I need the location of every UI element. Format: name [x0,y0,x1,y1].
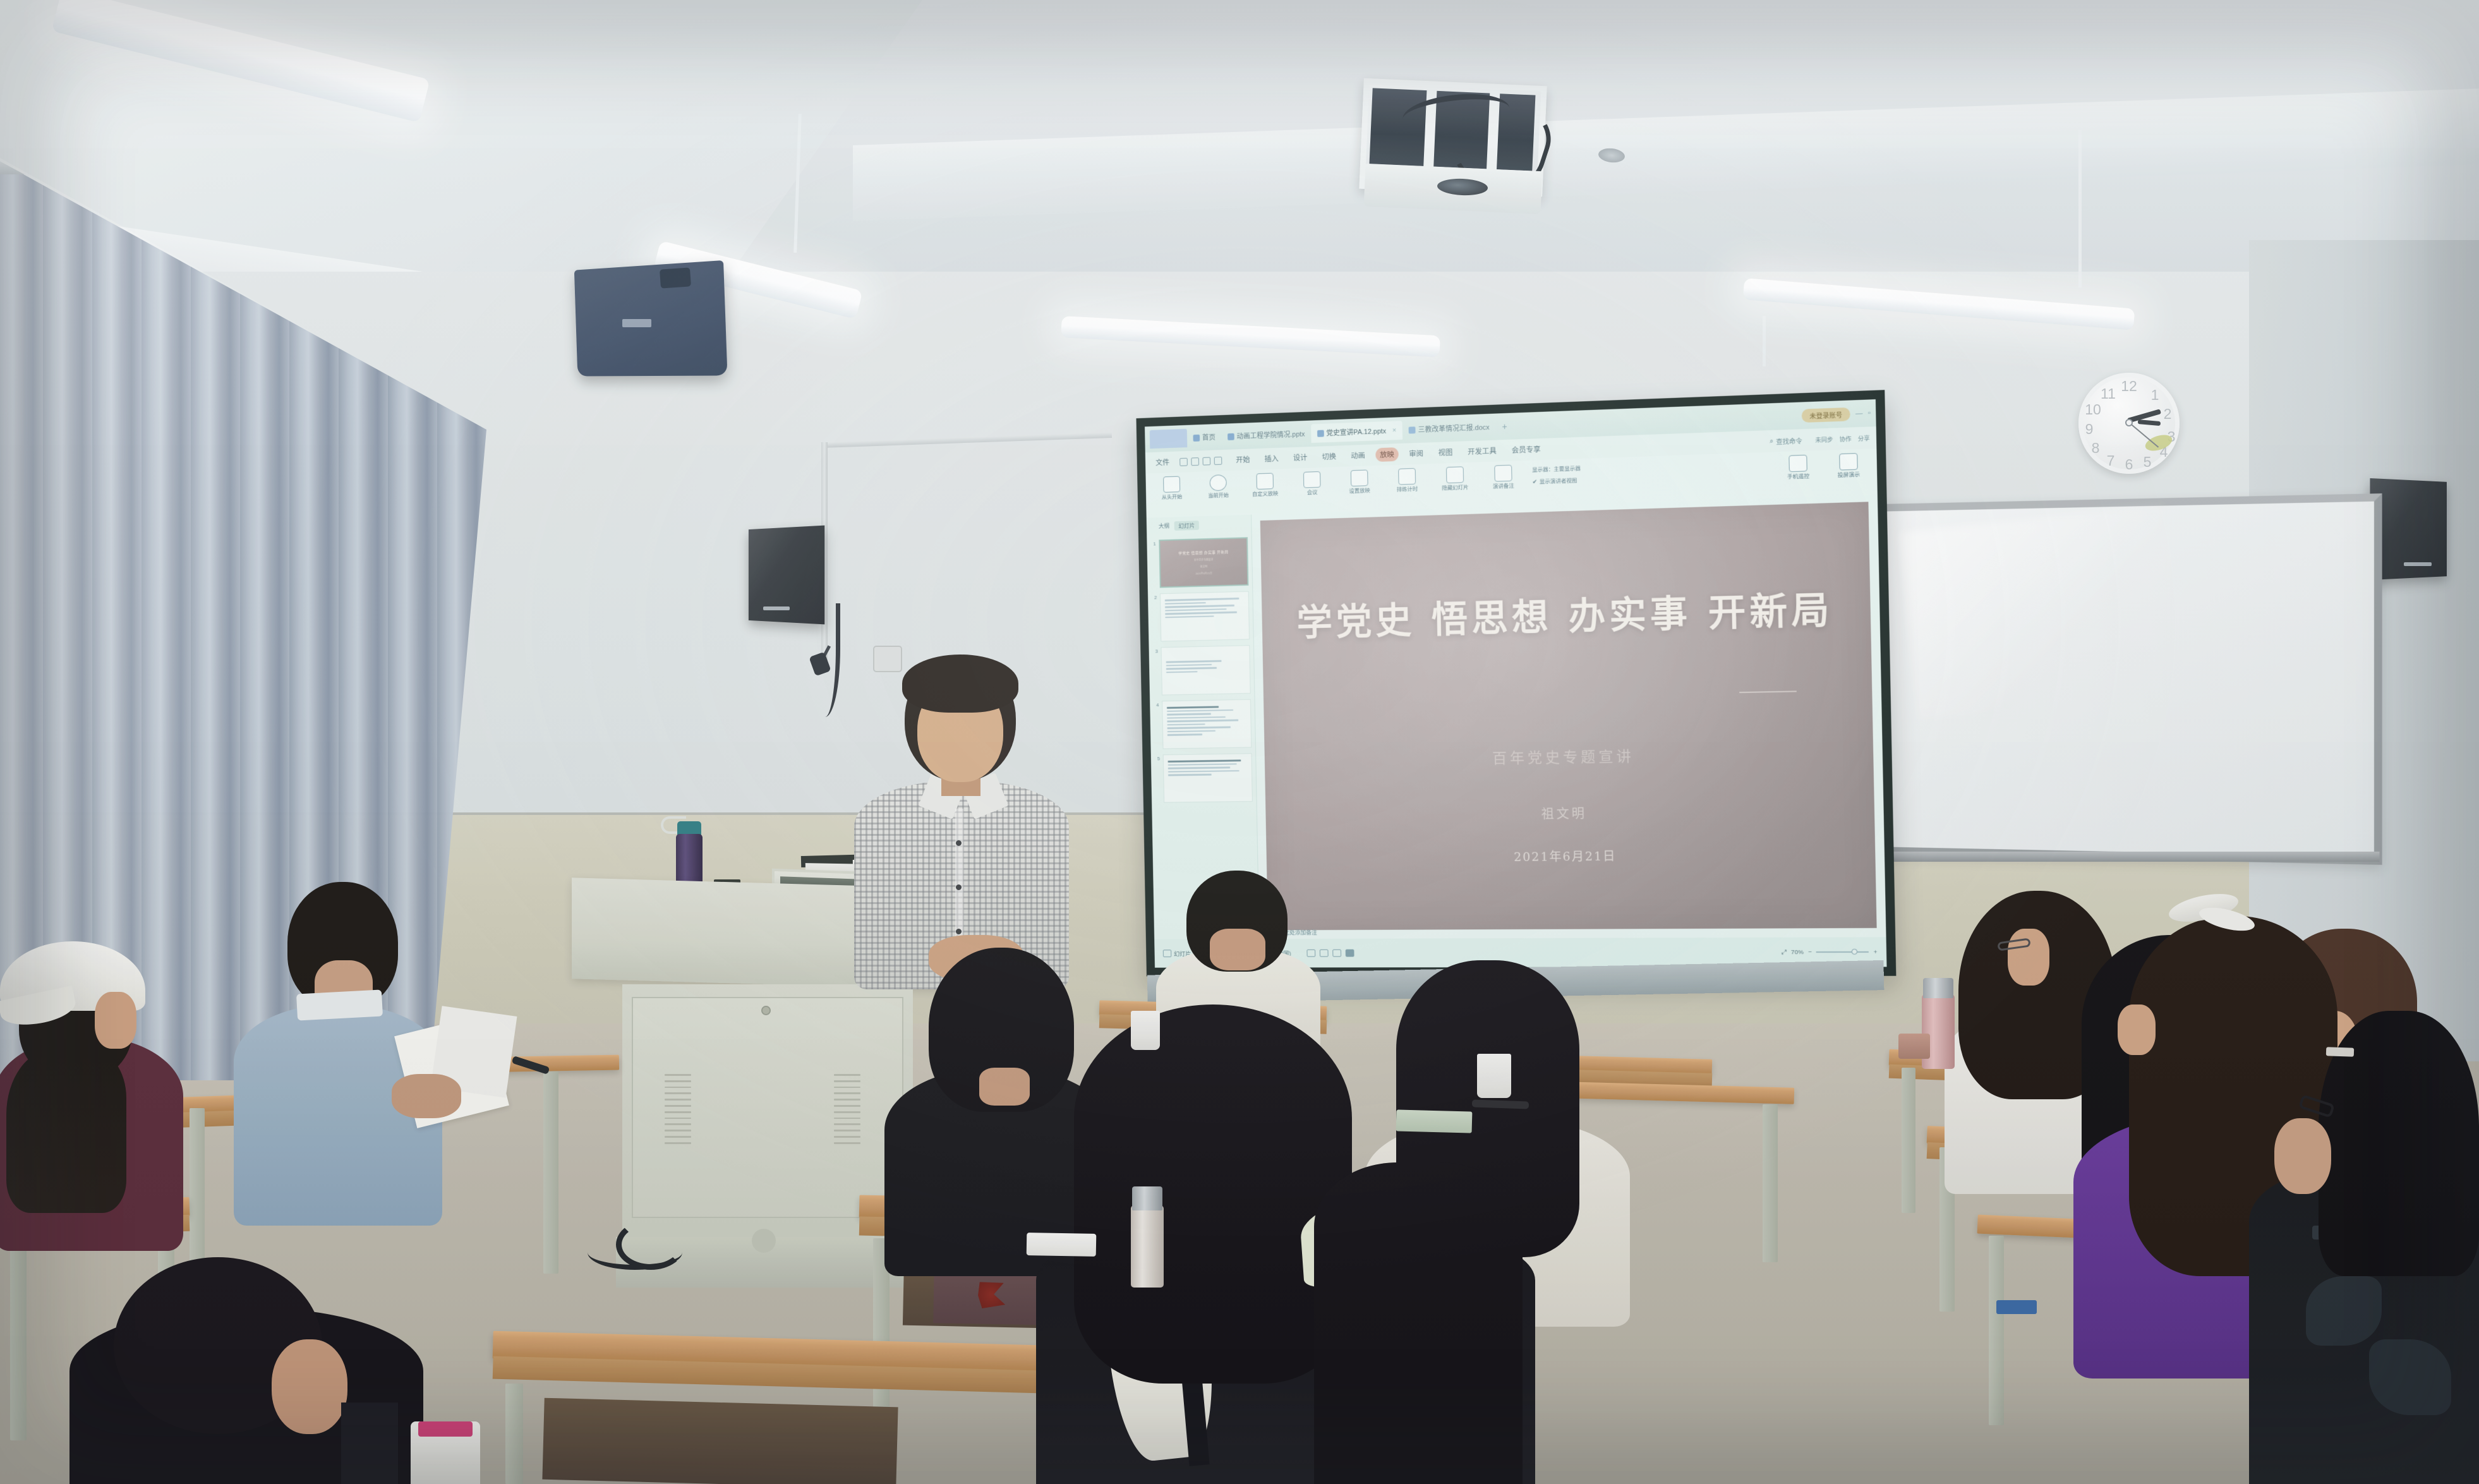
monitor-select[interactable]: 显示器：主要显示器 [1532,464,1581,474]
wps-search-box[interactable]: ⌕ 查找命令 [1770,435,1802,446]
thumbnail-1-subtitle: 百年党史专题宣讲 [1194,558,1214,562]
desk-leg [505,1384,523,1484]
collaborate-button[interactable]: 协作 [1840,434,1852,443]
zoom-slider-knob[interactable] [1852,949,1858,955]
current-slide[interactable]: 学党史 悟思想 办实事 开新局 百年党史专题宣讲 祖文明 2021年6月21日 [1260,502,1877,930]
wps-account-label: 未登录账号 [1809,409,1842,420]
wps-tab-1[interactable]: 党史宣讲PA.12.pptx × [1311,421,1402,443]
student-a3-face [272,1339,347,1434]
ribbon-setup-show[interactable]: 设置放映 [1340,469,1378,495]
sync-status-label: 未同步 [1815,435,1833,443]
thumbnail-number-2: 2 [1152,593,1157,600]
wps-workspace: 大纲 幻灯片 1 学党史 悟思想 办实事 开新局 百年党史专题宣讲 祖文明 20… [1147,495,1886,939]
thumbnail-3[interactable] [1161,645,1251,695]
view-switcher [1306,950,1354,957]
light-suspension-rod [2078,130,2082,287]
paper-cup [1477,1054,1511,1098]
ribbon-options: 显示器：主要显示器 ✔ 显示演讲者视图 [1532,462,1581,486]
screen-size-icon [1494,465,1512,482]
paper-cup [1131,1011,1160,1050]
menu-item-6[interactable]: 审阅 [1404,446,1428,461]
desk-leg [1902,1068,1915,1213]
phone-remote-icon [1788,455,1807,472]
ribbon-right-label-1: 投屏演示 [1838,472,1861,479]
ribbon-screen-share[interactable]: 投屏演示 [1828,452,1869,478]
speaker-badge [2404,562,2432,566]
new-tab-icon[interactable]: + [1502,421,1507,431]
ribbon-notes[interactable]: 演讲备注 [1483,464,1523,490]
doc-file-icon [1409,426,1416,433]
menu-item-5[interactable]: 放映 [1375,447,1399,462]
student-a1-hair [6,1049,126,1213]
menu-item-8[interactable]: 开发工具 [1463,443,1501,459]
search-icon: ⌕ [1770,438,1773,445]
ribbon-right-label-0: 手机遥控 [1787,473,1809,480]
fit-slide-icon[interactable]: ⤢ [1782,949,1787,956]
monitor-select-label: 显示器：主要显示器 [1532,464,1581,474]
wall-projector [574,260,728,377]
wall-projector-lens-icon [660,267,691,288]
blue-item [1996,1300,2037,1314]
presenter-view-label: 显示演讲者视图 [1540,476,1577,485]
ribbon-play-current[interactable]: 当前开始 [1199,474,1237,499]
panel-tabs: 大纲 幻灯片 [1150,517,1247,534]
thumbnail-number-4: 4 [1154,701,1159,708]
zoom-slider[interactable] [1816,951,1869,953]
classroom-photo: 12 1 2 3 4 5 6 7 8 9 10 11 首页 [0,0,2479,1484]
shirt-button [956,840,962,846]
floor-cable [588,1235,682,1270]
floral-print [2306,1276,2382,1346]
student-a2-collar [296,989,383,1020]
podium-knob[interactable] [752,1229,776,1253]
thumbnail-number-1: 1 [1150,540,1156,547]
ribbon-label-1: 当前开始 [1208,492,1229,498]
wps-logo-icon[interactable] [1150,429,1188,449]
wps-tab-2[interactable]: 三教改革情况汇报.docx [1402,418,1496,440]
thumbnail-item-3[interactable]: 3 [1152,645,1250,696]
clock-num-10: 10 [2085,401,2101,418]
desk-leg [1989,1236,2004,1425]
thermos-cap [1132,1186,1162,1210]
podium-vent-right [834,1074,860,1144]
print-icon[interactable] [1191,457,1199,466]
thumbnail-number-5: 5 [1154,754,1160,761]
ribbon-label-5: 排练计时 [1397,486,1418,493]
play-from-start-icon [1163,476,1180,493]
presenter-view-checkbox[interactable]: ✔ 显示演讲者视图 [1532,476,1581,486]
ribbon-meeting[interactable]: 会议 [1293,471,1331,496]
speaker-badge [763,606,790,610]
slide-sorter-icon[interactable] [1320,950,1329,957]
minimize-icon[interactable]: — [1855,409,1863,418]
undo-icon[interactable] [1202,457,1210,465]
wps-tab-0-label: 动画工程学院情况.pptx [1236,429,1305,442]
student-a3-body [341,1403,398,1484]
student-a5-hair-right [1314,1162,1523,1484]
student-a4-neck [979,1068,1030,1106]
ribbon-label-4: 设置放映 [1349,488,1370,494]
wall-projector-logo [622,319,651,327]
screen-share-icon [1839,453,1858,471]
student-a8-face [2008,929,2049,986]
maximize-icon[interactable]: ▫ [1868,409,1871,417]
menu-item-1[interactable]: 插入 [1260,451,1283,466]
slideshow-icon[interactable] [1346,950,1354,957]
ribbon-label-2: 自定义放映 [1252,491,1278,498]
desk-leg [543,1071,558,1274]
ribbon-custom-show[interactable]: 自定义放映 [1246,473,1284,498]
ribbon-hide-slide[interactable]: 隐藏幻灯片 [1435,466,1475,492]
clock-num-2: 2 [2159,406,2176,423]
thumbnail-item-1[interactable]: 1 学党史 悟思想 办实事 开新局 百年党史专题宣讲 祖文明 2021年6月21… [1150,537,1248,588]
mug-lid [418,1421,473,1437]
thumbnail-item-5[interactable]: 5 [1154,753,1252,803]
slide-count-icon [1163,950,1172,957]
rehearse-icon [1398,468,1416,485]
thumbnail-4[interactable] [1162,699,1252,749]
wps-tab-1-label: 党史宣讲PA.12.pptx [1326,426,1386,438]
play-current-icon [1210,474,1227,491]
ppt-file-icon [1317,430,1324,437]
thermos-cap [1923,978,1953,998]
small-cup [1898,1034,1930,1059]
student-a7-neck [1210,929,1265,970]
whiteboard-glare [1898,505,2182,721]
student-a5-hair [1074,1004,1352,1384]
slide-divider-rule [1739,691,1797,693]
power-bank [1027,1233,1097,1257]
ribbon-label-3: 会议 [1307,490,1318,496]
podium-vent-left [665,1074,691,1144]
student-a2-hand [392,1074,461,1118]
slide-editing-stage[interactable]: 学党史 悟思想 办实事 开新局 百年党史专题宣讲 祖文明 2021年6月21日 [1252,495,1886,939]
ribbon-rehearse[interactable]: 排练计时 [1387,468,1426,493]
wps-tab-0[interactable]: 动画工程学院情况.pptx [1221,424,1311,446]
ribbon-label-0: 从头开始 [1162,494,1183,500]
desk-leg [1763,1104,1778,1262]
clock-num-9: 9 [2081,421,2097,438]
setup-show-icon [1351,469,1368,486]
thumbnail-number-3: 3 [1152,647,1158,654]
menu-item-2[interactable]: 设计 [1289,450,1312,465]
plus-icon[interactable]: + [1873,948,1877,955]
clock-num-12: 12 [2121,378,2137,395]
hide-slide-icon [1446,466,1464,483]
thumbnail-1[interactable]: 学党史 悟思想 办实事 开新局 百年党史专题宣讲 祖文明 2021年6月21日 [1159,537,1248,588]
clock-num-11: 11 [2100,385,2116,402]
student-a10-ear [2118,1004,2156,1055]
menu-item-9[interactable]: 会员专享 [1507,442,1545,457]
whiteboard-marker-tray [1870,852,2379,862]
wps-tab-2-label: 三教改革情况汇报.docx [1418,422,1490,435]
normal-view-icon[interactable] [1306,950,1315,957]
student-a1-face [95,992,136,1049]
check-icon: ✔ [1532,478,1536,485]
slide-title: 学党史 悟思想 办实事 开新局 [1262,579,1871,647]
floral-print [2369,1339,2451,1415]
shirt-button [956,884,962,890]
save-icon[interactable] [1179,457,1188,466]
clock-num-1: 1 [2147,387,2163,404]
menu-item-0[interactable]: 开始 [1231,452,1254,467]
ribbon-label-6: 隐藏幻灯片 [1442,485,1468,492]
clock-num-8: 8 [2087,440,2104,457]
clock-center-pin [2125,419,2133,426]
clock-num-5: 5 [2139,454,2156,471]
close-icon[interactable]: × [1392,426,1397,434]
thumbnail-2[interactable] [1160,591,1250,642]
zoom-control[interactable]: ⤢ 70% − + [1782,948,1878,956]
thumbnail-1-cover: 学党史 悟思想 办实事 开新局 百年党史专题宣讲 祖文明 2021年6月21日 [1160,538,1247,586]
light-suspension-rod [1763,316,1766,366]
minus-icon[interactable]: − [1808,948,1812,955]
thumbnail-4-lines [1162,700,1251,742]
student-a12-face [2274,1118,2331,1194]
shirt-button [956,929,962,934]
thumbnail-3-lines [1162,646,1250,679]
ribbon-label-7: 演讲备注 [1493,483,1514,490]
presenter-view-icon [1303,471,1321,488]
tab-outline[interactable]: 大纲 [1159,522,1169,531]
custom-show-icon [1257,473,1274,490]
thumbnail-5[interactable] [1163,753,1253,802]
thumbnail-2-lines [1161,592,1249,624]
redo-icon[interactable] [1214,456,1222,464]
wps-search-placeholder: 查找命令 [1776,435,1802,446]
reading-view-icon[interactable] [1332,950,1341,957]
thumbnail-1-title: 学党史 悟思想 办实事 开新局 [1178,549,1229,556]
ribbon-phone-remote[interactable]: 手机遥控 [1778,454,1819,480]
wall-outlet-icon [873,646,902,672]
thumbnail-item-4[interactable]: 4 [1154,699,1252,749]
tab-slides[interactable]: 幻灯片 [1174,521,1199,531]
desk-leg [10,1232,27,1440]
clock-num-7: 7 [2102,452,2119,469]
ribbon-play-from-start[interactable]: 从头开始 [1153,476,1191,500]
notebook-green [1396,1109,1473,1133]
thumbnail-5-lines [1164,754,1252,781]
thumbnail-1-date: 2021年6月21日 [1195,572,1212,576]
quick-access-toolbar [1179,456,1222,466]
desk-shelf [542,1398,898,1484]
clock-num-6: 6 [2121,456,2137,473]
ppt-file-icon [1227,433,1234,440]
wps-file-menu[interactable]: 文件 [1151,455,1174,470]
podium-lock-icon[interactable] [761,1006,771,1015]
eraser [2326,1047,2354,1057]
thermos-bottle [1131,1205,1164,1288]
thumbnail-item-2[interactable]: 2 [1152,591,1250,642]
wps-home-tab[interactable]: 首页 [1187,428,1222,447]
zoom-level-label: 70% [1791,948,1804,955]
share-button[interactable]: 分享 [1858,433,1870,442]
wps-account-pill[interactable]: 未登录账号 [1802,407,1850,422]
slide-author: 祖文明 [1265,800,1874,825]
wps-home-tab-label: 首页 [1202,432,1215,442]
home-icon [1193,434,1200,441]
presenter-hair [902,655,1018,713]
slide-subtitle: 百年党史专题宣讲 [1265,740,1874,771]
menu-item-4[interactable]: 动画 [1346,449,1370,463]
menu-item-3[interactable]: 切换 [1318,449,1341,464]
menu-item-7[interactable]: 视图 [1434,445,1457,460]
slide-date: 2021年6月21日 [1267,845,1876,867]
thumbnail-1-author: 祖文明 [1200,565,1208,569]
